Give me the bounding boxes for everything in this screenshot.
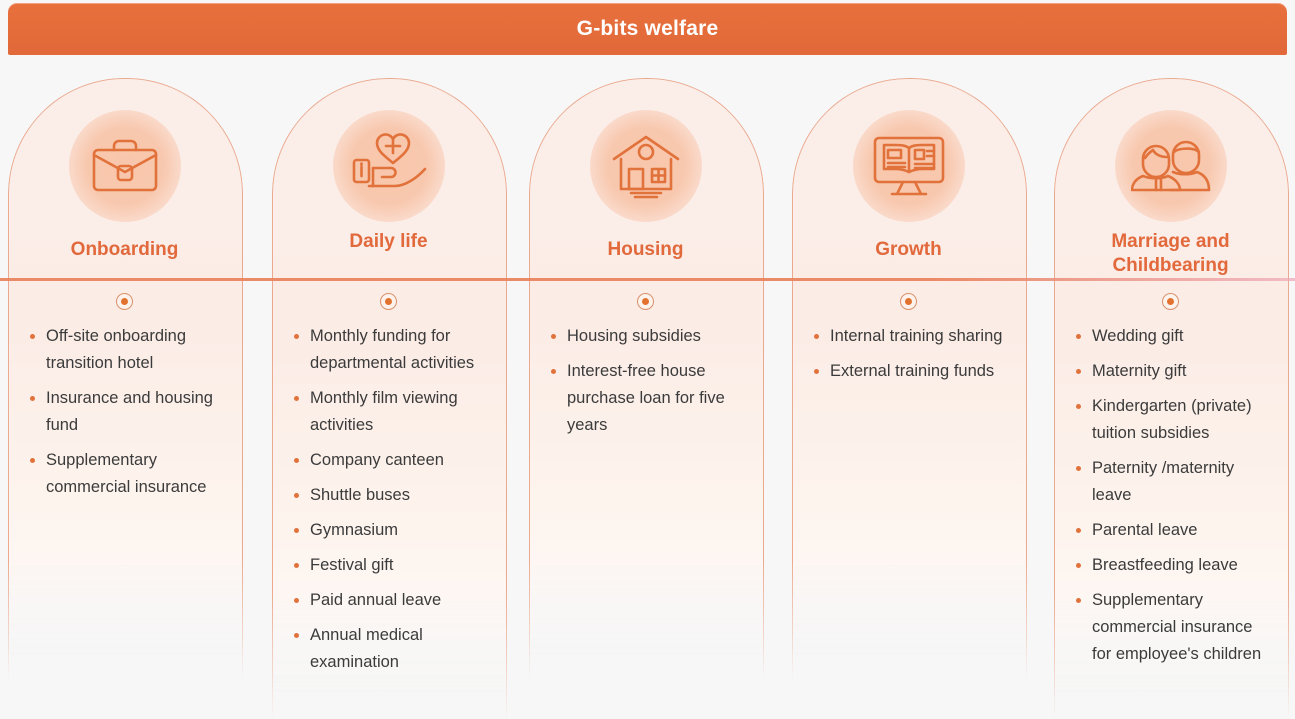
column-housing: Housing Housing subsidies Interest-free …: [529, 78, 762, 698]
timeline-node: [900, 293, 917, 310]
list-item: Monthly film viewing activities: [290, 385, 491, 439]
timeline-node: [1162, 293, 1179, 310]
bullet-list: Housing subsidies Interest-free house pu…: [529, 323, 762, 447]
column-daily-life: Daily life Monthly funding for departmen…: [272, 78, 505, 698]
column-growth: Growth Internal training sharing Externa…: [792, 78, 1025, 698]
list-item: Shuttle buses: [290, 482, 491, 509]
column-title: Marriage and Childbearing: [1054, 230, 1287, 278]
briefcase-icon: [83, 124, 167, 208]
couple-icon: [1129, 124, 1213, 208]
list-item: Paternity /maternity leave: [1072, 455, 1273, 509]
list-item: Supplementary commercial insurance for e…: [1072, 587, 1273, 668]
timeline-connector: [0, 278, 1295, 281]
list-item: Gymnasium: [290, 517, 491, 544]
bullet-list: Wedding gift Maternity gift Kindergarten…: [1054, 323, 1287, 676]
list-item: Maternity gift: [1072, 358, 1273, 385]
header-banner: G-bits welfare: [8, 3, 1287, 55]
list-item: Kindergarten (private) tuition subsidies: [1072, 393, 1273, 447]
list-item: Insurance and housing fund: [26, 385, 227, 439]
column-title: Housing: [529, 238, 762, 262]
list-item: Monthly funding for departmental activit…: [290, 323, 491, 377]
list-item: Annual medical examination: [290, 622, 491, 676]
list-item: External training funds: [810, 358, 1011, 385]
list-item: Paid annual leave: [290, 587, 491, 614]
list-item: Housing subsidies: [547, 323, 748, 350]
list-item: Supplementary commercial insurance: [26, 447, 227, 501]
list-item: Breastfeeding leave: [1072, 552, 1273, 579]
list-item: Interest-free house purchase loan for fi…: [547, 358, 748, 439]
list-item: Company canteen: [290, 447, 491, 474]
timeline-node: [637, 293, 654, 310]
list-item: Wedding gift: [1072, 323, 1273, 350]
hand-heart-care-icon: [347, 124, 431, 208]
column-title: Growth: [792, 238, 1025, 262]
list-item: Off-site onboarding transition hotel: [26, 323, 227, 377]
page-title: G-bits welfare: [577, 17, 719, 41]
list-item: Parental leave: [1072, 517, 1273, 544]
house-icon: [604, 124, 688, 208]
column-title: Onboarding: [8, 238, 241, 262]
list-item: Festival gift: [290, 552, 491, 579]
columns-container: Onboarding Off-site onboarding transitio…: [0, 56, 1295, 715]
column-title: Daily life: [272, 230, 505, 254]
bullet-list: Internal training sharing External train…: [792, 323, 1025, 393]
bullet-list: Off-site onboarding transition hotel Ins…: [8, 323, 241, 509]
column-marriage-childbearing: Marriage and Childbearing Wedding gift M…: [1054, 78, 1287, 698]
timeline-node: [116, 293, 133, 310]
welfare-infographic: G-bits welfare Onboarding Off-site onboa…: [0, 0, 1295, 715]
column-onboarding: Onboarding Off-site onboarding transitio…: [8, 78, 241, 698]
list-item: Internal training sharing: [810, 323, 1011, 350]
bullet-list: Monthly funding for departmental activit…: [272, 323, 505, 684]
timeline-node: [380, 293, 397, 310]
monitor-book-icon: [867, 124, 951, 208]
